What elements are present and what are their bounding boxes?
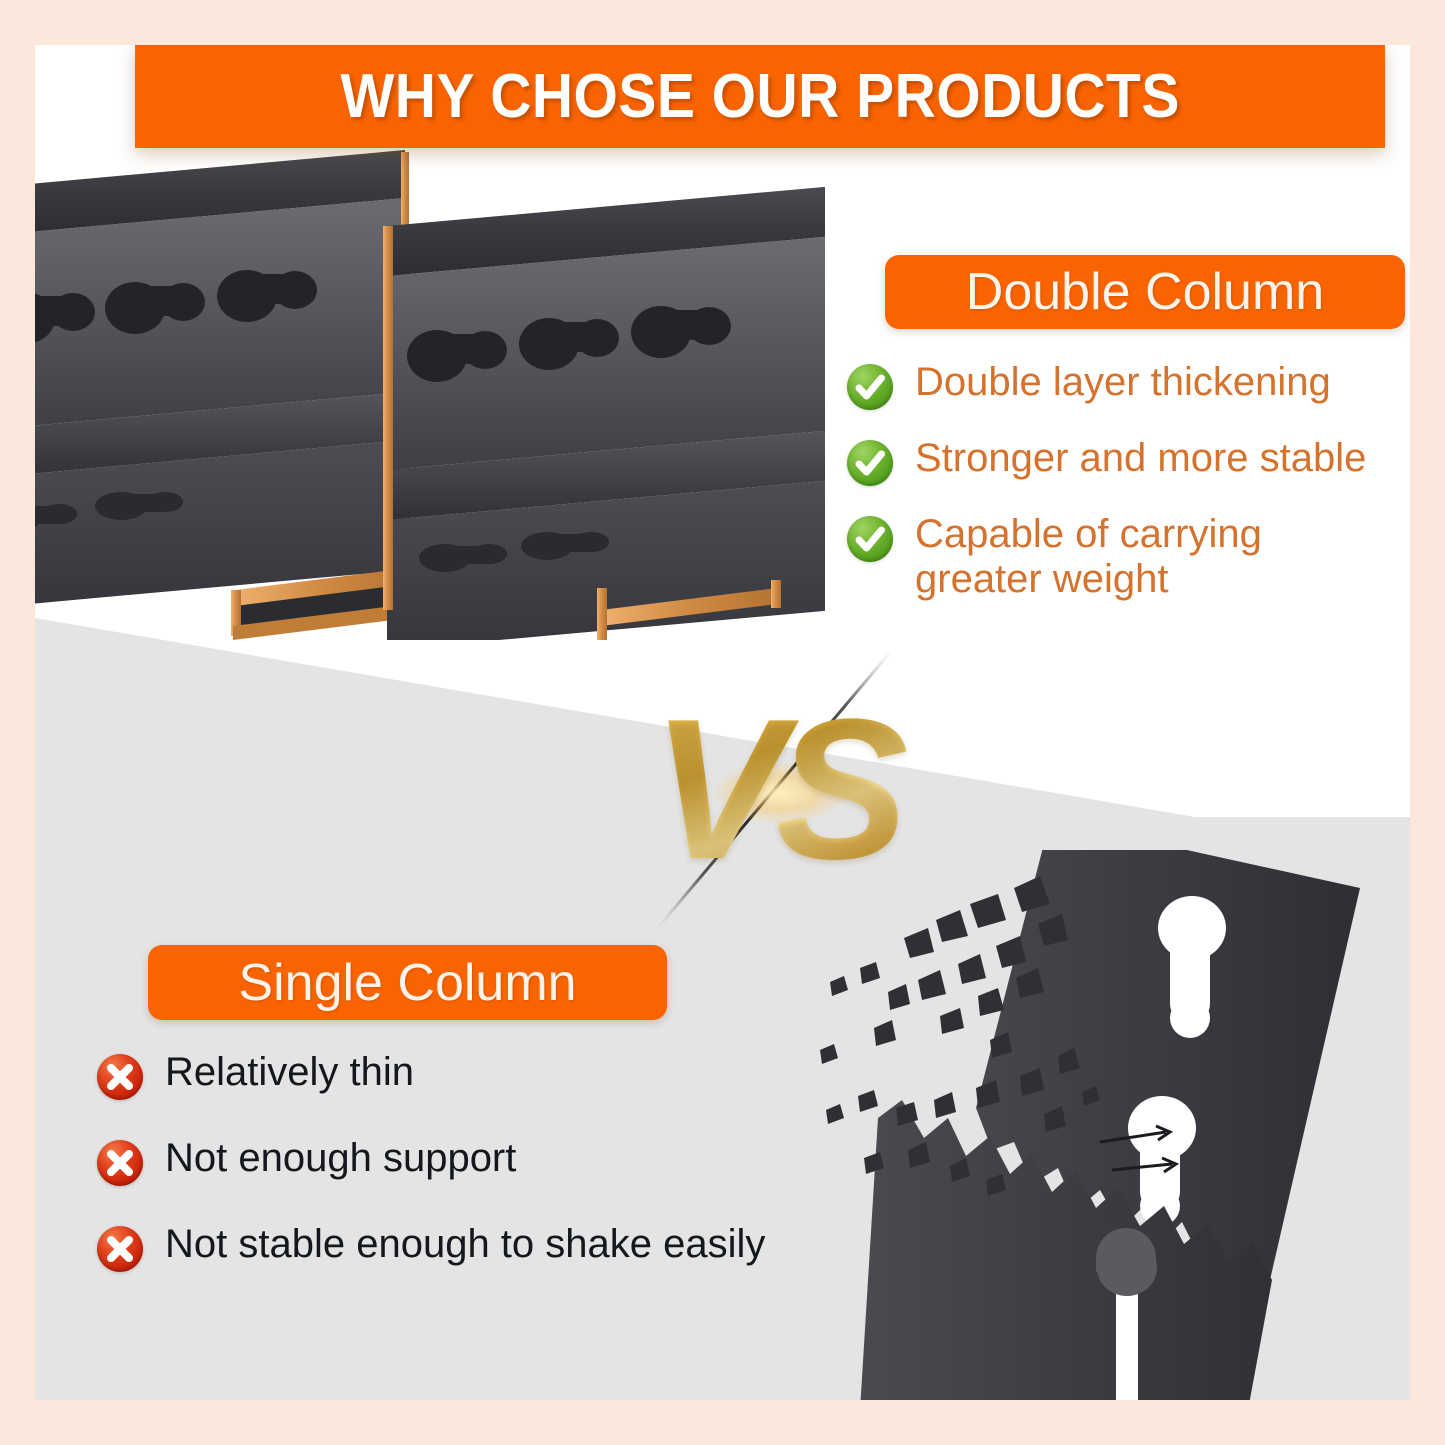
beam-front xyxy=(383,186,825,640)
header-banner: WHY CHOSE OUR PRODUCTS xyxy=(135,45,1385,148)
cons-item-label: Not enough support xyxy=(165,1136,516,1181)
check-circle-icon xyxy=(847,364,893,410)
list-item: Stronger and more stable xyxy=(847,436,1410,486)
list-item: Not stable enough to shake easily xyxy=(97,1222,857,1272)
content-canvas: VS WHY CHOSE OUR PRODUCTS Double Column … xyxy=(35,45,1410,1400)
check-circle-icon xyxy=(847,516,893,562)
page-title: WHY CHOSE OUR PRODUCTS xyxy=(340,61,1179,132)
beam-back xyxy=(35,150,409,640)
list-item: Not enough support xyxy=(97,1136,857,1186)
check-circle-icon xyxy=(847,440,893,486)
pros-item-label: Capable of carrying greater weight xyxy=(915,512,1262,602)
versus-graphic: VS xyxy=(595,645,955,935)
list-item: Double layer thickening xyxy=(847,360,1410,410)
cons-item-label: Not stable enough to shake easily xyxy=(165,1222,765,1267)
double-column-badge: Double Column xyxy=(885,255,1405,329)
double-column-photo xyxy=(35,140,825,640)
vs-label: VS xyxy=(595,645,955,935)
cross-circle-icon xyxy=(97,1226,143,1272)
cross-circle-icon xyxy=(97,1140,143,1186)
pros-item-label: Stronger and more stable xyxy=(915,436,1366,481)
cons-list: Relatively thin Not enough support Not s… xyxy=(97,1050,857,1308)
list-item: Relatively thin xyxy=(97,1050,857,1100)
list-item: Capable of carrying greater weight xyxy=(847,512,1410,602)
double-column-badge-label: Double Column xyxy=(966,262,1324,322)
pros-list: Double layer thickening Stronger and mor… xyxy=(847,360,1410,628)
pros-item-label: Double layer thickening xyxy=(915,360,1331,405)
cons-item-label: Relatively thin xyxy=(165,1050,414,1095)
single-column-badge: Single Column xyxy=(148,945,667,1020)
product-comparison-infographic: VS WHY CHOSE OUR PRODUCTS Double Column … xyxy=(0,0,1445,1445)
cross-circle-icon xyxy=(97,1054,143,1100)
single-column-badge-label: Single Column xyxy=(238,953,576,1013)
